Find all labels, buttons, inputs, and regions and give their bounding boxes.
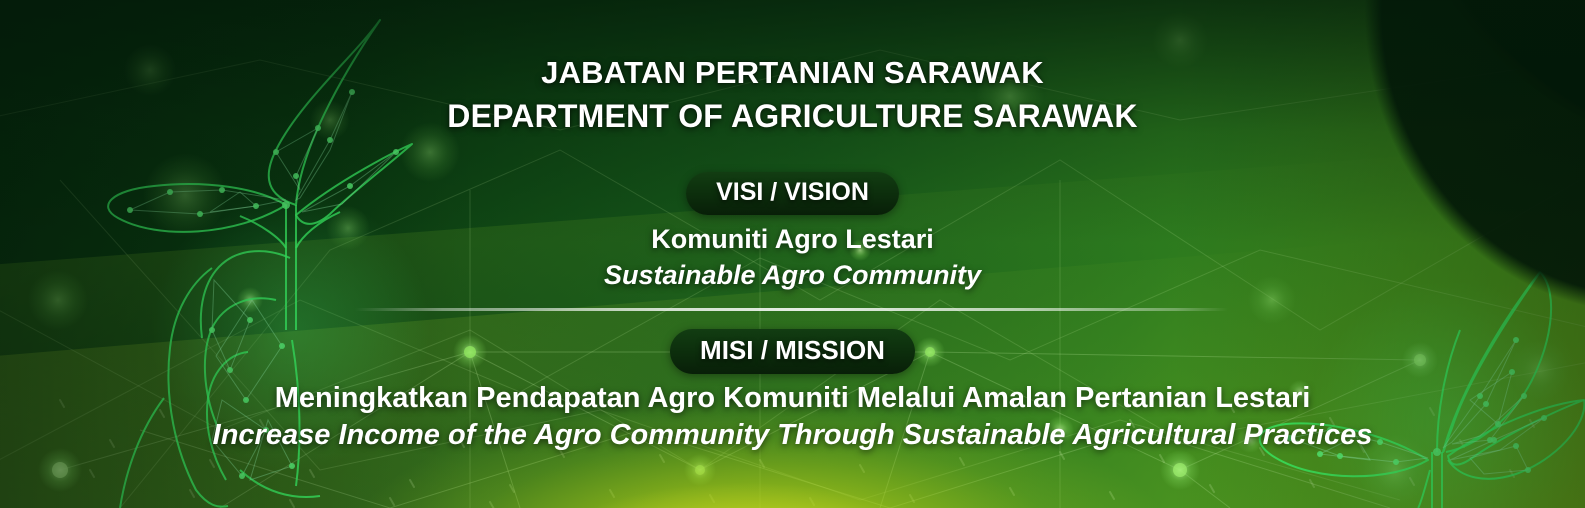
banner-content: JABATAN PERTANIAN SARAWAK DEPARTMENT OF … [0, 0, 1585, 508]
department-name-english: DEPARTMENT OF AGRICULTURE SARAWAK [0, 94, 1585, 138]
mission-text-english: Increase Income of the Agro Community Th… [0, 419, 1585, 452]
department-name-malay: JABATAN PERTANIAN SARAWAK [0, 52, 1585, 94]
vision-text-english: Sustainable Agro Community [0, 260, 1585, 291]
mission-label-badge: MISI / MISSION [670, 329, 915, 374]
vision-mission-banner: JABATAN PERTANIAN SARAWAK DEPARTMENT OF … [0, 0, 1585, 508]
vision-text-malay: Komuniti Agro Lestari [0, 224, 1585, 255]
vision-label-badge: VISI / VISION [686, 172, 899, 215]
section-divider [355, 308, 1228, 311]
department-title: JABATAN PERTANIAN SARAWAK DEPARTMENT OF … [0, 52, 1585, 138]
mission-section: MISI / MISSION Meningkatkan Pendapatan A… [0, 329, 1585, 452]
vision-section: VISI / VISION Komuniti Agro Lestari Sust… [0, 172, 1585, 291]
mission-text-malay: Meningkatkan Pendapatan Agro Komuniti Me… [0, 382, 1585, 415]
